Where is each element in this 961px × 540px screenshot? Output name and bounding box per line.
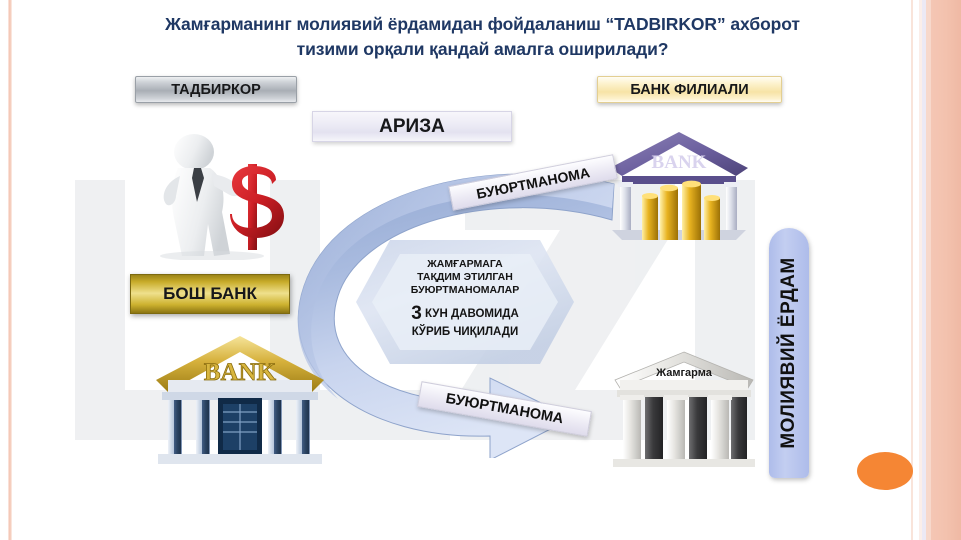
label-ariza: АРИЗА [312,111,512,142]
businessman-with-dollar-icon [152,128,292,260]
center-note-line-2: ТАҚДИМ ЭТИЛГАН [389,271,541,284]
center-note-line-4: 3 КУН ДАВОМИДА [389,304,541,324]
label-buyurtmanoma-top: БУЮРТМАНОМА [448,154,618,211]
label-bank-filiali: БАНК ФИЛИАЛИ [597,76,782,103]
center-note-line-1: ЖАМҒАРМАГА [389,258,541,271]
center-note: ЖАМҒАРМАГА ТАҚДИМ ЭТИЛГАН БУЮРТМАНОМАЛАР… [389,258,541,340]
right-border-stripe-1 [931,0,961,540]
page-title-line-2: тизими орқали қандай амалга оширилади? [60,37,905,62]
left-border-stripe [8,0,12,540]
right-border-stripe-4 [919,0,922,540]
orange-ellipse-decoration [857,452,913,490]
center-note-days-text: КУН ДАВОМИДА [422,308,519,320]
page-title: Жамғарманинг молиявий ёрдамидан фойдалан… [60,12,905,62]
label-moliyaviy-yordam-text: МОЛИЯВИЙ ЁРДАМ [778,257,800,448]
bank-building-with-coins-icon: BANK [604,126,754,246]
right-border-stripe-3 [922,0,926,540]
center-note-days-number: 3 [411,303,422,324]
label-bosh-bank: БОШ БАНК [130,274,290,314]
center-note-line-5: КЎРИБ ЧИҚИЛАДИ [389,324,541,340]
label-moliyaviy-yordam: МОЛИЯВИЙ ЁРДАМ [769,228,809,478]
right-border-stripes [903,0,961,540]
center-note-line-3: БУЮРТМАНОМАЛАР [389,284,541,297]
fund-building-icon: Жамгарма [611,350,757,468]
bank-building-icon: BANK [152,332,328,468]
page-title-line-1: Жамғарманинг молиявий ёрдамидан фойдалан… [60,12,905,37]
svg-text:BANK: BANK [652,152,707,173]
svg-text:Жамгарма: Жамгарма [655,367,713,379]
right-border-stripe-2 [926,0,931,540]
svg-text:BANK: BANK [204,359,277,386]
label-tadbirkor: ТАДБИРКОР [135,76,297,103]
right-border-stripe-5 [911,0,913,540]
slide-canvas: BANK [0,0,961,540]
label-buyurtmanoma-bottom: БУЮРТМАНОМА [417,381,592,437]
